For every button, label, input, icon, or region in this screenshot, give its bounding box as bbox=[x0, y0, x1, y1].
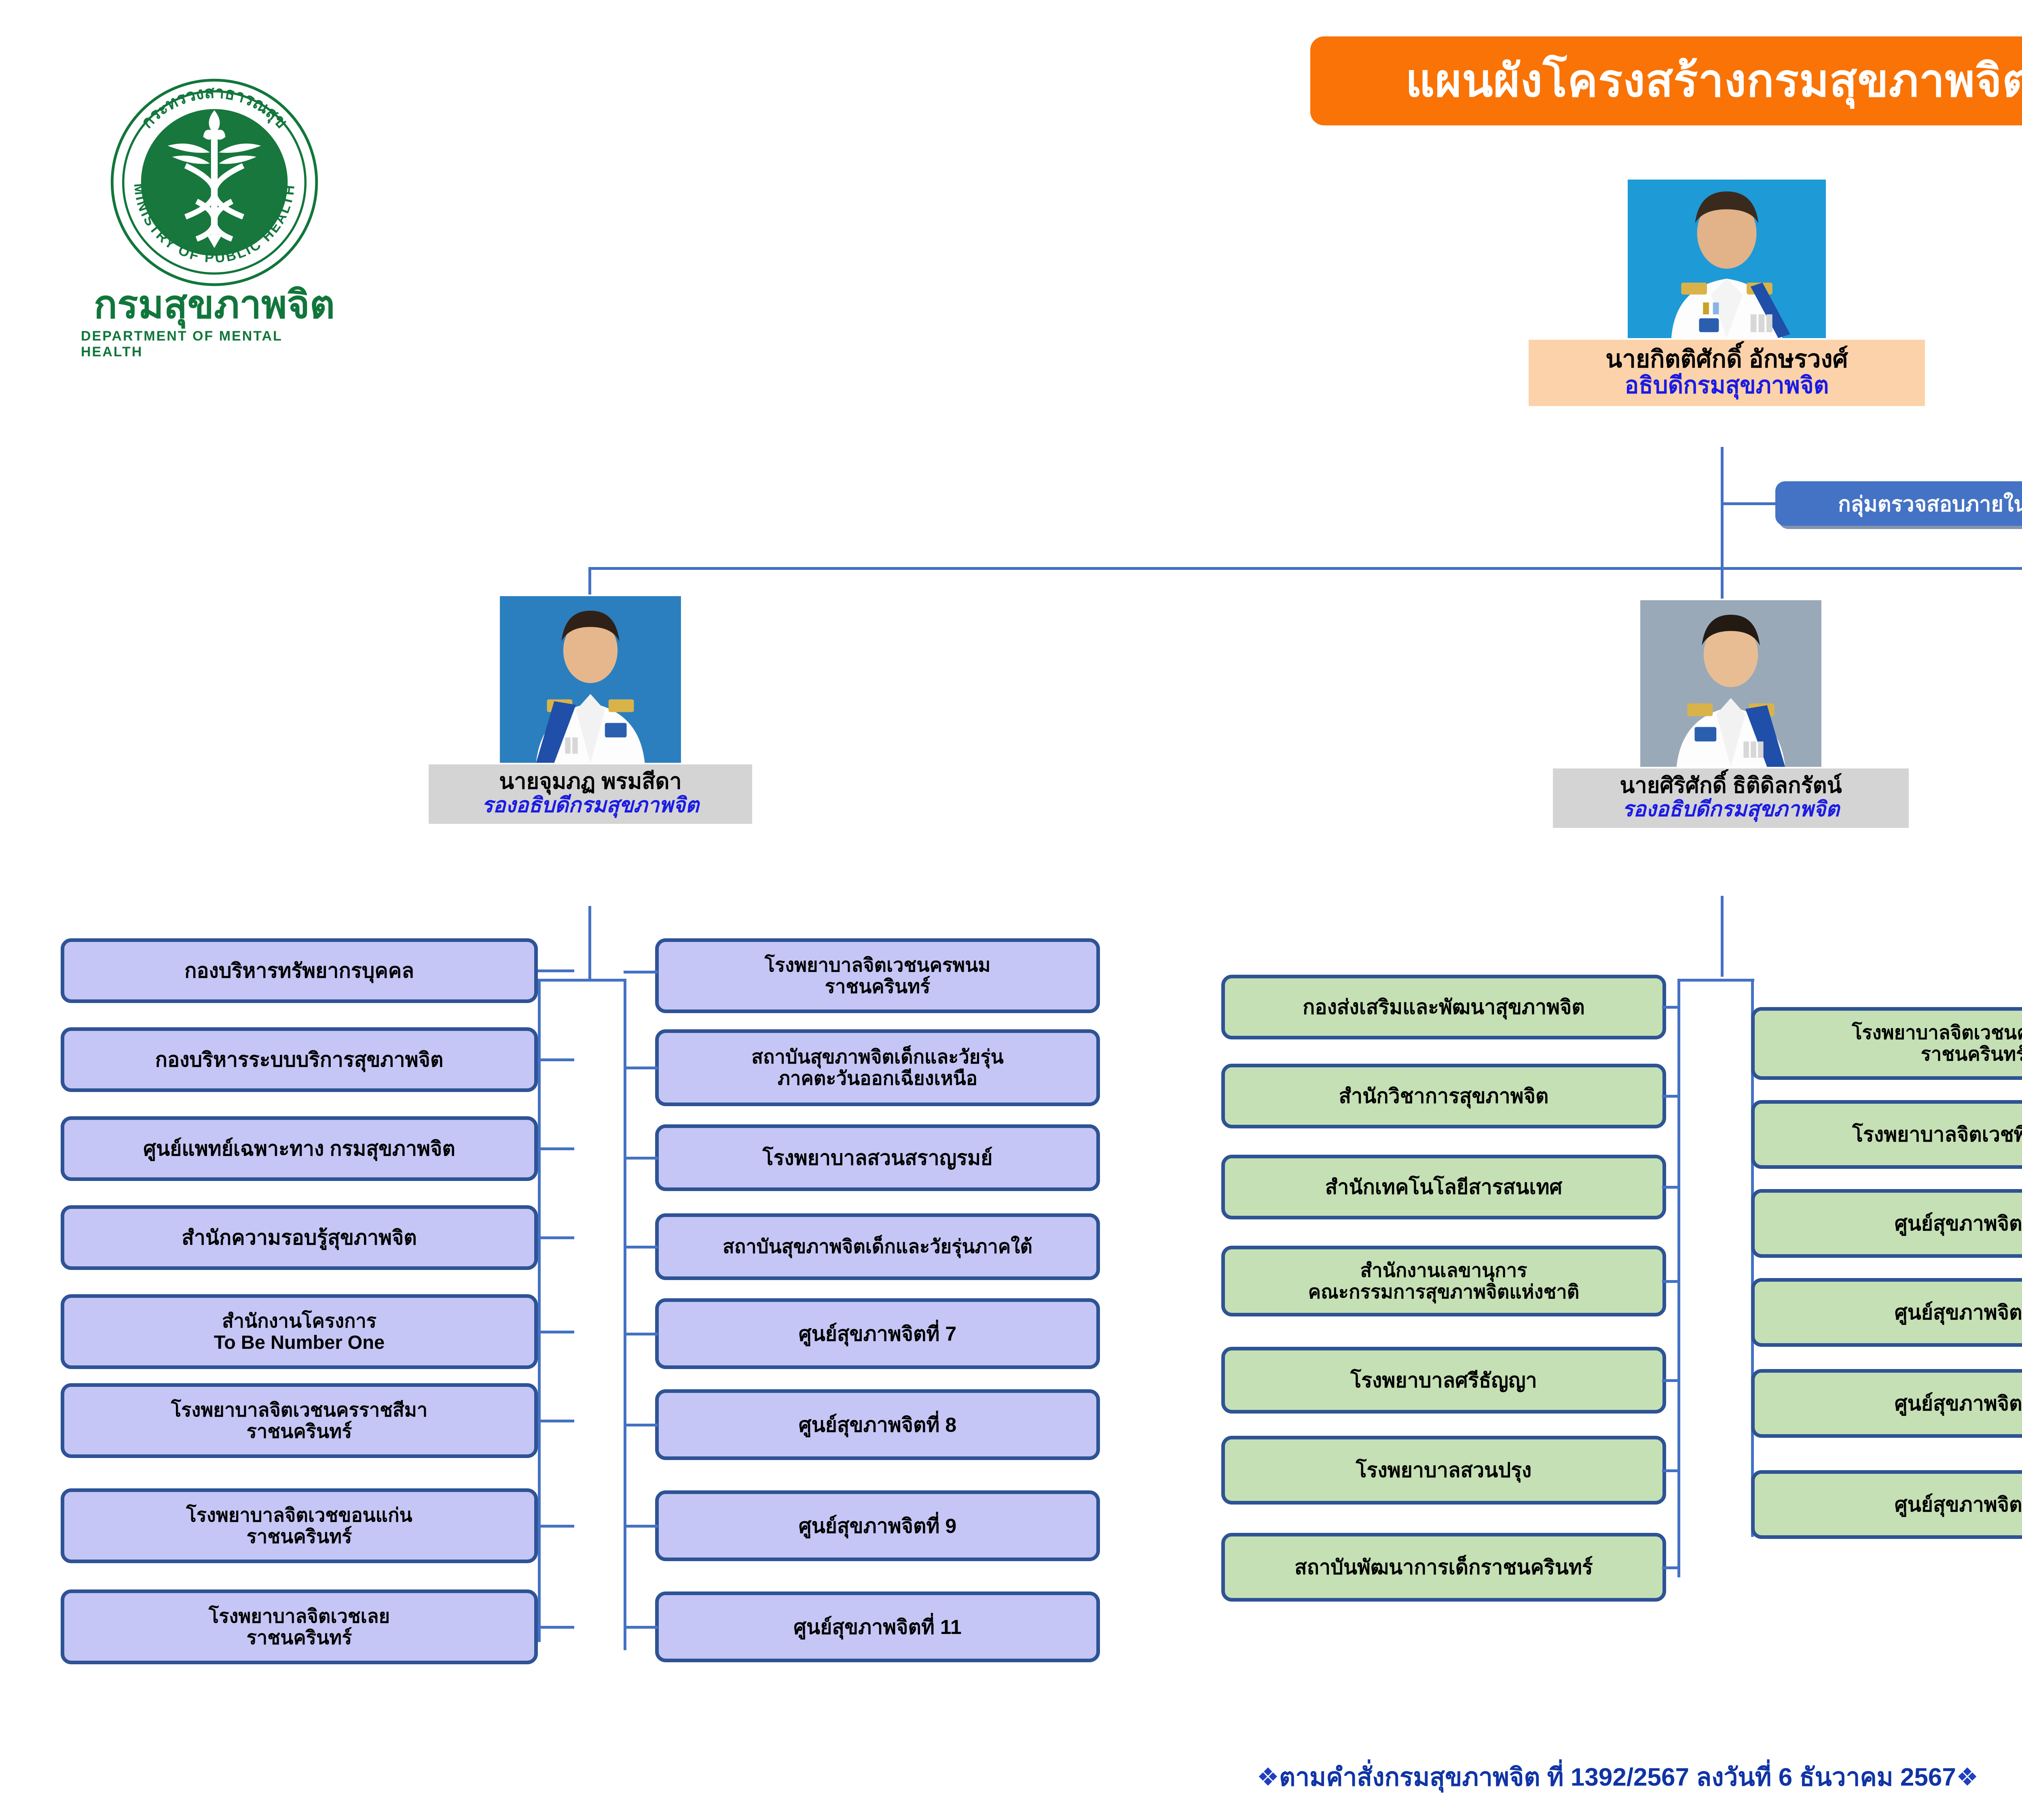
ministry-seal-icon: กระทรวงสาธารณสุข MINISTRY OF PUBLIC HEAL… bbox=[101, 77, 328, 288]
unit-col2-0[interactable]: โรงพยาบาลจิตเวชนครพนม ราชนครินทร์ bbox=[655, 938, 1100, 1013]
logo-english-name: DEPARTMENT OF MENTAL HEALTH bbox=[81, 328, 348, 360]
deputy-1-namebar: นายจุมภฏ พรมสีดา รองอธิบดีกรมสุขภาพจิต bbox=[429, 764, 752, 824]
connector-audit-horizontal bbox=[1721, 502, 1777, 505]
unit-col3-5[interactable]: โรงพยาบาลสวนปรุง bbox=[1221, 1436, 1666, 1505]
connector-branch-mid bbox=[1721, 567, 1724, 599]
director-portrait bbox=[1626, 178, 1828, 340]
unit-col1-4[interactable]: สำนักงานโครงการ To Be Number One bbox=[61, 1294, 538, 1369]
unit-col3-2[interactable]: สำนักเทคโนโลยีสารสนเทศ bbox=[1221, 1155, 1666, 1219]
deputy-2-namebar: นายศิริศักดิ์ ธิติดิลกรัตน์ รองอธิบดีกรม… bbox=[1553, 768, 1909, 828]
stub-c2-4 bbox=[624, 1333, 658, 1335]
unit-col3-1[interactable]: สำนักวิชาการสุขภาพจิต bbox=[1221, 1064, 1666, 1128]
spine-col3 bbox=[1677, 979, 1680, 1577]
unit-col3-6[interactable]: สถาบันพัฒนาการเด็กราชนครินทร์ bbox=[1221, 1533, 1666, 1602]
unit-col1-1[interactable]: กองบริหารระบบบริการสุขภาพจิต bbox=[61, 1027, 538, 1092]
footer-text: ตามคำสั่งกรมสุขภาพจิต ที่ 1392/2567 ลงวั… bbox=[1279, 1763, 1956, 1791]
unit-col4-3[interactable]: ศูนย์สุขภาพจิตที่ 2 bbox=[1751, 1278, 2022, 1347]
unit-col3-3[interactable]: สำนักงานเลขานุการ คณะกรรมการสุขภาพจิตแห่… bbox=[1221, 1246, 1666, 1316]
deputy-2-portrait bbox=[1638, 599, 1824, 768]
unit-col2-3[interactable]: สถาบันสุขภาพจิตเด็กและวัยรุ่นภาคใต้ bbox=[655, 1213, 1100, 1280]
director-name: นายกิตติศักดิ์ อักษรวงศ์ bbox=[1605, 345, 1848, 372]
footer-note: ❖ตามคำสั่งกรมสุขภาพจิต ที่ 1392/2567 ลงว… bbox=[0, 1757, 2022, 1797]
stub-c2-2 bbox=[624, 1157, 658, 1160]
spine-col12-bridge bbox=[538, 979, 625, 982]
deputy-1-name: นายจุมภฏ พรมสีดา bbox=[499, 769, 682, 794]
stub-c2-7 bbox=[624, 1626, 658, 1629]
unit-col3-0[interactable]: กองส่งเสริมและพัฒนาสุขภาพจิต bbox=[1221, 975, 1666, 1039]
deputy-card-2: นายศิริศักดิ์ ธิติดิลกรัตน์ รองอธิบดีกรม… bbox=[1553, 599, 1909, 828]
unit-col2-4[interactable]: ศูนย์สุขภาพจิตที่ 7 bbox=[655, 1298, 1100, 1369]
unit-col2-6[interactable]: ศูนย์สุขภาพจิตที่ 9 bbox=[655, 1490, 1100, 1561]
logo-thai-name: กรมสุขภาพจิต bbox=[94, 286, 335, 324]
stub-c3-5 bbox=[1662, 1469, 1680, 1472]
org-chart-canvas: แผนผังโครงสร้างกรมสุขภาพจิต กระทรวงสาธาร… bbox=[0, 0, 2022, 1820]
connector-branch-left bbox=[588, 567, 591, 595]
stub-c1-5 bbox=[538, 1420, 574, 1422]
director-namebar: นายกิตติศักดิ์ อักษรวงศ์ อธิบดีกรมสุขภาพ… bbox=[1529, 340, 1925, 406]
stub-c2-6 bbox=[624, 1525, 658, 1528]
unit-col1-3[interactable]: สำนักความรอบรู้สุขภาพจิต bbox=[61, 1205, 538, 1270]
unit-col2-7[interactable]: ศูนย์สุขภาพจิตที่ 11 bbox=[655, 1591, 1100, 1662]
unit-col1-0[interactable]: กองบริหารทรัพยากรบุคคล bbox=[61, 938, 538, 1003]
footer-bullet-left: ❖ bbox=[1257, 1763, 1280, 1791]
stub-c2-3 bbox=[624, 1246, 658, 1249]
unit-col2-2[interactable]: โรงพยาบาลสวนสราญรมย์ bbox=[655, 1124, 1100, 1191]
unit-col2-5[interactable]: ศูนย์สุขภาพจิตที่ 8 bbox=[655, 1389, 1100, 1460]
deputy-2-role: รองอธิบดีกรมสุขภาพจิต bbox=[1622, 798, 1839, 821]
deputy-card-1: นายจุมภฏ พรมสีดา รองอธิบดีกรมสุขภาพจิต bbox=[429, 595, 752, 824]
connector-deputy2-down bbox=[1721, 896, 1724, 977]
spine-col1 bbox=[538, 979, 541, 1642]
stub-c1-0 bbox=[538, 969, 574, 972]
director-role: อธิบดีกรมสุขภาพจิต bbox=[1625, 372, 1829, 399]
stub-c1-4 bbox=[538, 1331, 574, 1333]
page-title: แผนผังโครงสร้างกรมสุขภาพจิต bbox=[1310, 36, 2022, 125]
stub-c3-2 bbox=[1662, 1186, 1680, 1189]
connector-main-bus bbox=[588, 567, 2022, 570]
unit-col4-1[interactable]: โรงพยาบาลจิตเวชพิษณุโลก bbox=[1751, 1100, 2022, 1169]
unit-col1-5[interactable]: โรงพยาบาลจิตเวชนครราชสีมา ราชนครินทร์ bbox=[61, 1383, 538, 1458]
stub-c1-7 bbox=[538, 1626, 574, 1629]
ministry-logo: กระทรวงสาธารณสุข MINISTRY OF PUBLIC HEAL… bbox=[81, 77, 348, 360]
director-card: นายกิตติศักดิ์ อักษรวงศ์ อธิบดีกรมสุขภาพ… bbox=[1529, 178, 1925, 406]
unit-col1-6[interactable]: โรงพยาบาลจิตเวชขอนแก่น ราชนครินทร์ bbox=[61, 1488, 538, 1563]
stub-c3-0 bbox=[1662, 1006, 1680, 1009]
stub-c1-1 bbox=[538, 1058, 574, 1061]
stub-c1-6 bbox=[538, 1525, 574, 1528]
unit-col4-0[interactable]: โรงพยาบาลจิตเวชนครสวรรค์ ราชนครินทร์ bbox=[1751, 1007, 2022, 1080]
spine-col2 bbox=[624, 979, 626, 1650]
unit-col4-4[interactable]: ศูนย์สุขภาพจิตที่ 3 bbox=[1751, 1369, 2022, 1438]
stub-c3-1 bbox=[1662, 1095, 1680, 1098]
unit-col1-2[interactable]: ศูนย์แพทย์เฉพาะทาง กรมสุขภาพจิต bbox=[61, 1116, 538, 1181]
stub-c3-4 bbox=[1662, 1379, 1680, 1382]
connector-deputy1-down bbox=[588, 906, 591, 979]
unit-col4-2[interactable]: ศูนย์สุขภาพจิตที่ 1 bbox=[1751, 1189, 2022, 1258]
stub-c3-3 bbox=[1662, 1280, 1680, 1283]
deputy-1-role: รองอธิบดีกรมสุขภาพจิต bbox=[482, 794, 699, 817]
stub-c1-3 bbox=[538, 1236, 574, 1239]
unit-col2-1[interactable]: สถาบันสุขภาพจิตเด็กและวัยรุ่น ภาคตะวันออ… bbox=[655, 1029, 1100, 1106]
deputy-2-name: นายศิริศักดิ์ ธิติดิลกรัตน์ bbox=[1620, 773, 1842, 798]
spine-col34-bridge bbox=[1677, 979, 1754, 982]
stub-c2-5 bbox=[624, 1424, 658, 1426]
stub-c1-2 bbox=[538, 1147, 574, 1150]
stub-c2-0 bbox=[624, 971, 658, 973]
footer-bullet-right: ❖ bbox=[1956, 1763, 1979, 1791]
stub-c2-1 bbox=[624, 1067, 658, 1069]
stub-c3-6 bbox=[1662, 1566, 1680, 1569]
unit-col1-7[interactable]: โรงพยาบาลจิตเวชเลย ราชนครินทร์ bbox=[61, 1589, 538, 1664]
unit-col4-5[interactable]: ศูนย์สุขภาพจิตที่ 4 bbox=[1751, 1470, 2022, 1539]
deputy-1-portrait bbox=[497, 595, 683, 764]
unit-col3-4[interactable]: โรงพยาบาลศรีธัญญา bbox=[1221, 1347, 1666, 1414]
internal-audit-box[interactable]: กลุ่มตรวจสอบภายใน bbox=[1775, 481, 2022, 526]
connector-director-vertical bbox=[1721, 447, 1724, 568]
